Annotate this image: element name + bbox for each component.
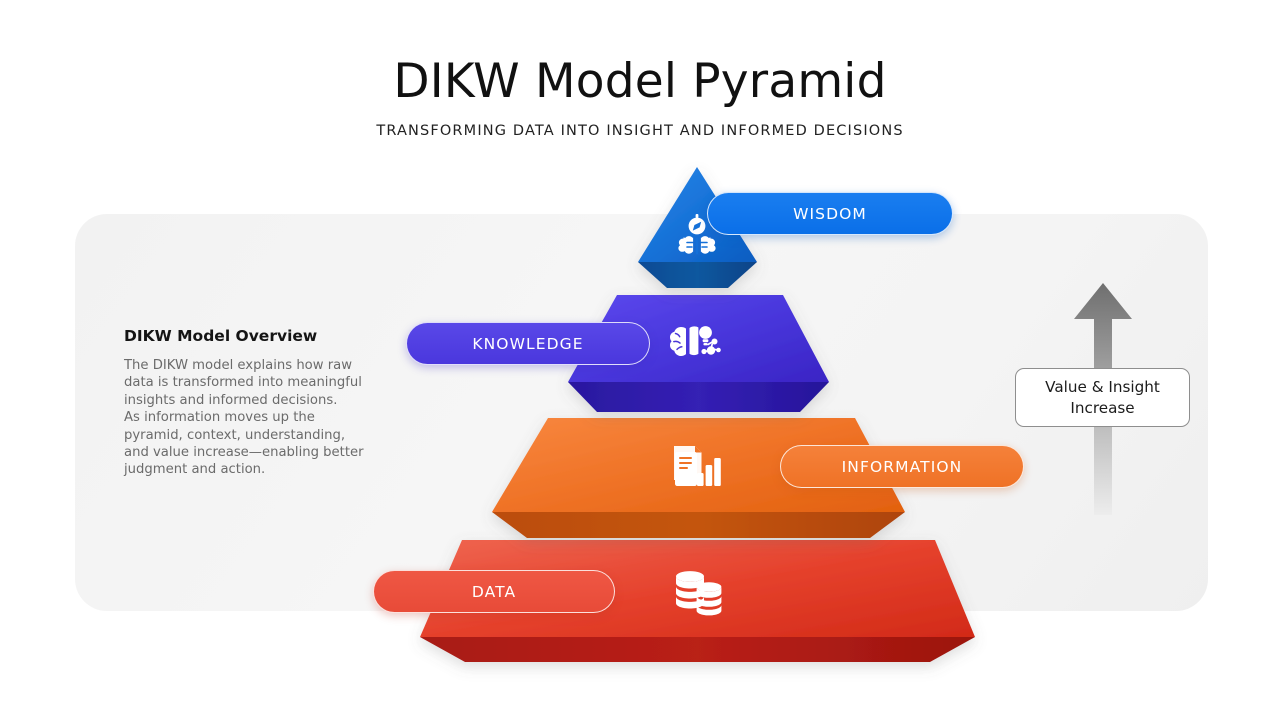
tier-label-information[interactable]: INFORMATION — [780, 445, 1024, 488]
overview-body: The DIKW model explains how raw data is … — [124, 357, 374, 479]
tier-label-knowledge[interactable]: KNOWLEDGE — [406, 322, 650, 365]
page-title: DIKW Model Pyramid — [0, 52, 1280, 112]
tier-label-wisdom[interactable]: WISDOM — [707, 192, 953, 235]
tier-data-base — [420, 637, 975, 662]
value-increase-label: Value & Insight Increase — [1015, 368, 1190, 427]
overview-block: DIKW Model Overview The DIKW model expla… — [124, 325, 374, 479]
overview-heading: DIKW Model Overview — [124, 325, 374, 347]
tier-information-base — [492, 512, 905, 538]
tier-label-data[interactable]: DATA — [373, 570, 615, 613]
page-subtitle: TRANSFORMING DATA INTO INSIGHT AND INFOR… — [0, 121, 1280, 141]
tier-knowledge-base — [568, 382, 829, 412]
